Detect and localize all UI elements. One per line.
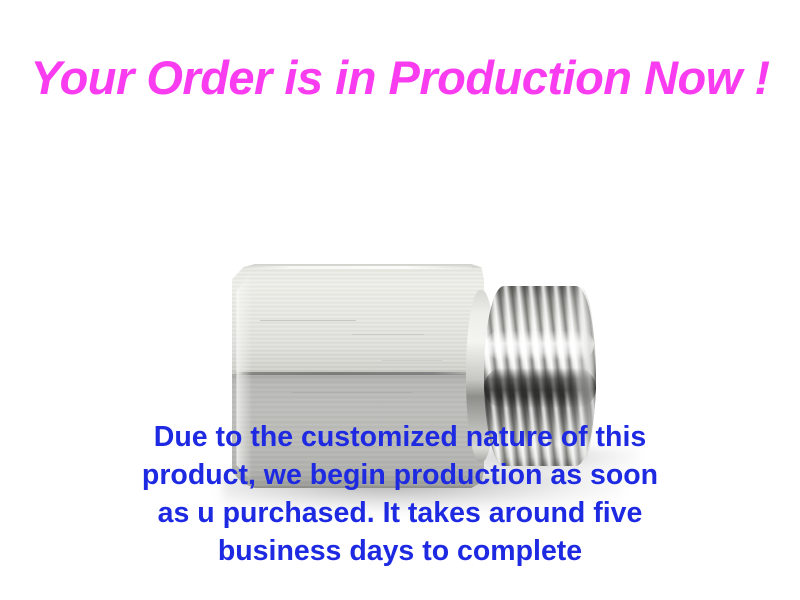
notice-line: business days to complete: [0, 532, 800, 570]
notice-line: product, we begin production as soon: [0, 456, 800, 494]
hex-facet-edge-line: [234, 372, 482, 375]
product-photo: [0, 118, 800, 408]
surface-scratch: [352, 334, 424, 335]
page-title: Your Order is in Production Now !: [0, 50, 800, 106]
surface-scratch: [292, 392, 412, 393]
notice-paragraph: Due to the customized nature of this pro…: [0, 418, 800, 570]
surface-scratch: [382, 360, 442, 361]
notice-line: Due to the customized nature of this: [0, 418, 800, 456]
promotional-notice-image: Your Order is in Production Now !: [0, 0, 800, 600]
hex-top-edge-highlight: [246, 266, 472, 269]
notice-line: as u purchased. It takes around five: [0, 494, 800, 532]
surface-scratch: [260, 320, 356, 321]
